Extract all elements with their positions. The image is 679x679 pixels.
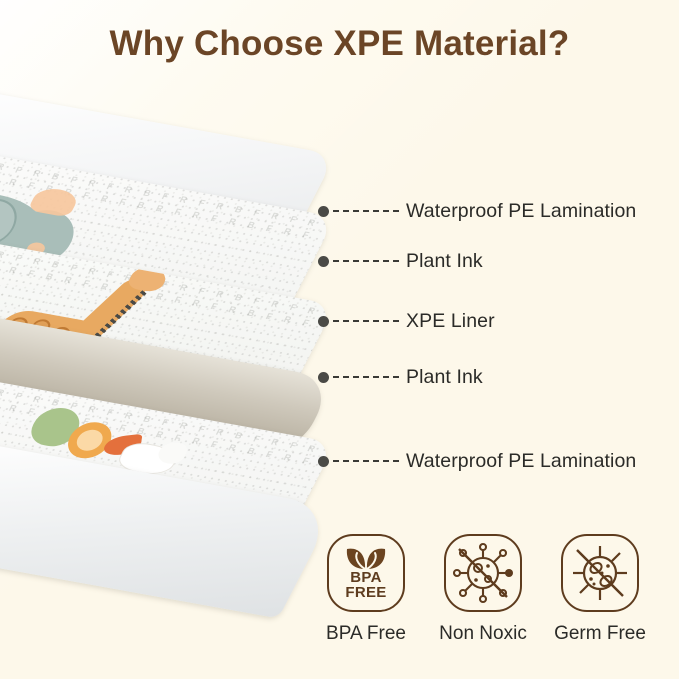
layer-callout-list: Waterproof PE Lamination Plant Ink XPE L… xyxy=(318,0,679,520)
badge-frame xyxy=(444,534,522,612)
callout-label: Plant Ink xyxy=(406,366,483,389)
callout-bullet-icon xyxy=(318,256,329,267)
callout-label: Waterproof PE Lamination xyxy=(406,450,636,473)
callout-label: Plant Ink xyxy=(406,250,483,273)
infographic-poster: Why Choose XPE Material? F R F R F R B F… xyxy=(0,0,679,679)
bpa-free-text: BPA FREE xyxy=(345,571,386,600)
callout-leader-line xyxy=(333,260,399,262)
page-title: Why Choose XPE Material? xyxy=(0,24,679,64)
callout-waterproof-pe-lamination-bottom: Waterproof PE Lamination xyxy=(318,450,636,472)
certification-badge-row: BPA FREE BPA Free xyxy=(318,534,679,664)
badge-frame: BPA FREE xyxy=(327,534,405,612)
callout-bullet-icon xyxy=(318,206,329,217)
germ-crossed-out-icon xyxy=(569,542,631,604)
callout-leader-line xyxy=(333,210,399,212)
badge-caption: Non Noxic xyxy=(439,623,527,645)
mat-layer-stack-illustration: F R F R F R B F R F R B F R F R B F R F … xyxy=(0,84,362,554)
badge-germ-free: Germ Free xyxy=(561,534,639,664)
leaf-bpa-icon xyxy=(344,546,388,571)
callout-bullet-icon xyxy=(318,456,329,467)
callout-leader-line xyxy=(333,320,399,322)
badge-non-noxic: Non Noxic xyxy=(444,534,522,664)
callout-bullet-icon xyxy=(318,372,329,383)
callout-leader-line xyxy=(333,376,399,378)
callout-plant-ink-bottom: Plant Ink xyxy=(318,366,483,388)
badge-frame xyxy=(561,534,639,612)
badge-bpa-free: BPA FREE BPA Free xyxy=(327,534,405,664)
callout-label: XPE Liner xyxy=(406,310,495,333)
badge-caption: Germ Free xyxy=(554,623,646,645)
virus-crossed-out-icon xyxy=(452,542,514,604)
callout-bullet-icon xyxy=(318,316,329,327)
callout-plant-ink-top: Plant Ink xyxy=(318,250,483,272)
callout-xpe-liner: XPE Liner xyxy=(318,310,495,332)
callout-waterproof-pe-lamination-top: Waterproof PE Lamination xyxy=(318,200,636,222)
callout-label: Waterproof PE Lamination xyxy=(406,200,636,223)
callout-leader-line xyxy=(333,460,399,462)
badge-caption: BPA Free xyxy=(326,623,406,645)
bpa-line-2: FREE xyxy=(345,586,386,601)
